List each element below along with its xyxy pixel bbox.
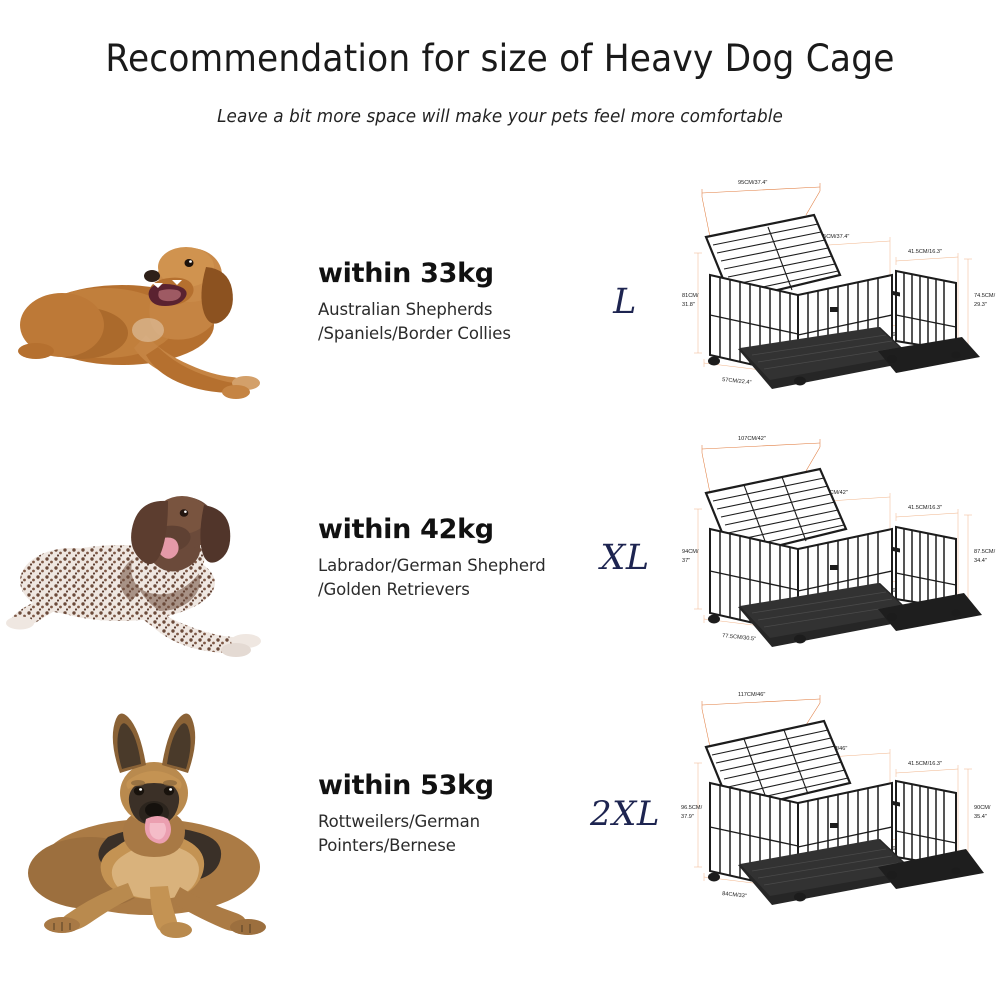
dog-photo-cell — [0, 431, 300, 684]
recommendation-row: within 53kg Rottweilers/German Pointers/… — [0, 687, 1000, 940]
header: Recommendation for size of Heavy Dog Cag… — [0, 0, 1000, 127]
page-subtitle: Leave a bit more space will make your pe… — [20, 107, 980, 127]
dim-door-height: 90CM/ — [974, 805, 991, 811]
dim-cage-width: 77.5CM/30.5" — [722, 633, 756, 643]
dog-german-shepherd-lying-icon — [0, 687, 300, 940]
cage-diagram-cell: 117CM/46" 117CM/46" 41.5CM/16.3" 96.5CM/… — [680, 687, 1000, 940]
recommendation-text-cell: within 53kg Rottweilers/German Pointers/… — [300, 770, 570, 857]
dim-door-width: 41.5CM/16.3" — [908, 249, 942, 255]
size-badge: 2XL — [590, 794, 660, 834]
infographic-page: Recommendation for size of Heavy Dog Cag… — [0, 0, 1000, 1000]
size-badge: XL — [600, 538, 649, 578]
dim-door-height-in: 35.4" — [974, 814, 987, 820]
cage-diagram-cell: 107CM/42" 107CM/42" 41.5CM/16.3" 94CM/ 3… — [680, 431, 1000, 684]
dog-photo-cell — [0, 175, 300, 428]
dog-pointer-lying-icon — [0, 431, 300, 684]
dim-door-height: 87.5CM/ — [974, 549, 996, 555]
dog-cage-3d-icon: 107CM/42" 107CM/42" 41.5CM/16.3" 94CM/ 3… — [680, 431, 1000, 684]
dim-door-width: 41.5CM/16.3" — [908, 761, 942, 767]
dim-cage-width: 84CM/33" — [722, 891, 747, 900]
dim-cage-height-in: 31.8" — [682, 302, 695, 308]
breeds-line-2: Pointers/Bernese — [318, 834, 570, 857]
size-label-cell: L — [570, 282, 680, 322]
dim-cage-height: 94CM/ — [682, 549, 699, 555]
breeds-line-1: Rottweilers/German — [318, 810, 570, 833]
dim-top-panel-width: 95CM/37.4" — [738, 180, 767, 186]
size-label-cell: 2XL — [570, 794, 680, 834]
breeds-line-2: /Spaniels/Border Collies — [318, 322, 570, 345]
dim-top-panel-width: 107CM/42" — [738, 436, 766, 442]
dim-door-width: 41.5CM/16.3" — [908, 505, 942, 511]
weight-label: within 42kg — [318, 514, 570, 545]
dim-top-panel-width: 117CM/46" — [738, 692, 765, 698]
dog-photo-cell — [0, 687, 300, 940]
recommendation-text-cell: within 33kg Australian Shepherds /Spanie… — [300, 258, 570, 345]
dim-door-height-in: 29.3" — [974, 302, 987, 308]
breeds-line-1: Australian Shepherds — [318, 298, 570, 321]
page-title: Recommendation for size of Heavy Dog Cag… — [35, 38, 965, 81]
dog-cage-3d-icon: 117CM/46" 117CM/46" 41.5CM/16.3" 96.5CM/… — [680, 687, 1000, 940]
dim-cage-width: 57CM/22.4" — [722, 377, 752, 386]
size-badge: L — [613, 282, 637, 322]
recommendation-row: within 33kg Australian Shepherds /Spanie… — [0, 175, 1000, 428]
dim-cage-height-in: 37" — [682, 558, 690, 564]
dim-door-height-in: 34.4" — [974, 558, 987, 564]
dim-cage-height: 96.5CM/ — [681, 805, 703, 811]
recommendation-rows: within 33kg Australian Shepherds /Spanie… — [0, 175, 1000, 940]
size-label-cell: XL — [570, 538, 680, 578]
breeds-line-2: /Golden Retrievers — [318, 578, 570, 601]
dog-tan-lying-icon — [0, 175, 300, 428]
weight-label: within 53kg — [318, 770, 570, 801]
dog-cage-3d-icon: 95CM/37.4" 95CM/37.4" 41.5CM/16.3" 81CM/… — [680, 175, 1000, 428]
recommendation-text-cell: within 42kg Labrador/German Shepherd /Go… — [300, 514, 570, 601]
breeds-line-1: Labrador/German Shepherd — [318, 554, 570, 577]
dim-cage-height: 81CM/ — [682, 293, 699, 299]
recommendation-row: within 42kg Labrador/German Shepherd /Go… — [0, 431, 1000, 684]
weight-label: within 33kg — [318, 258, 570, 289]
dim-cage-height-in: 37.9" — [681, 814, 694, 820]
cage-diagram-cell: 95CM/37.4" 95CM/37.4" 41.5CM/16.3" 81CM/… — [680, 175, 1000, 428]
dim-door-height: 74.5CM/ — [974, 293, 996, 299]
